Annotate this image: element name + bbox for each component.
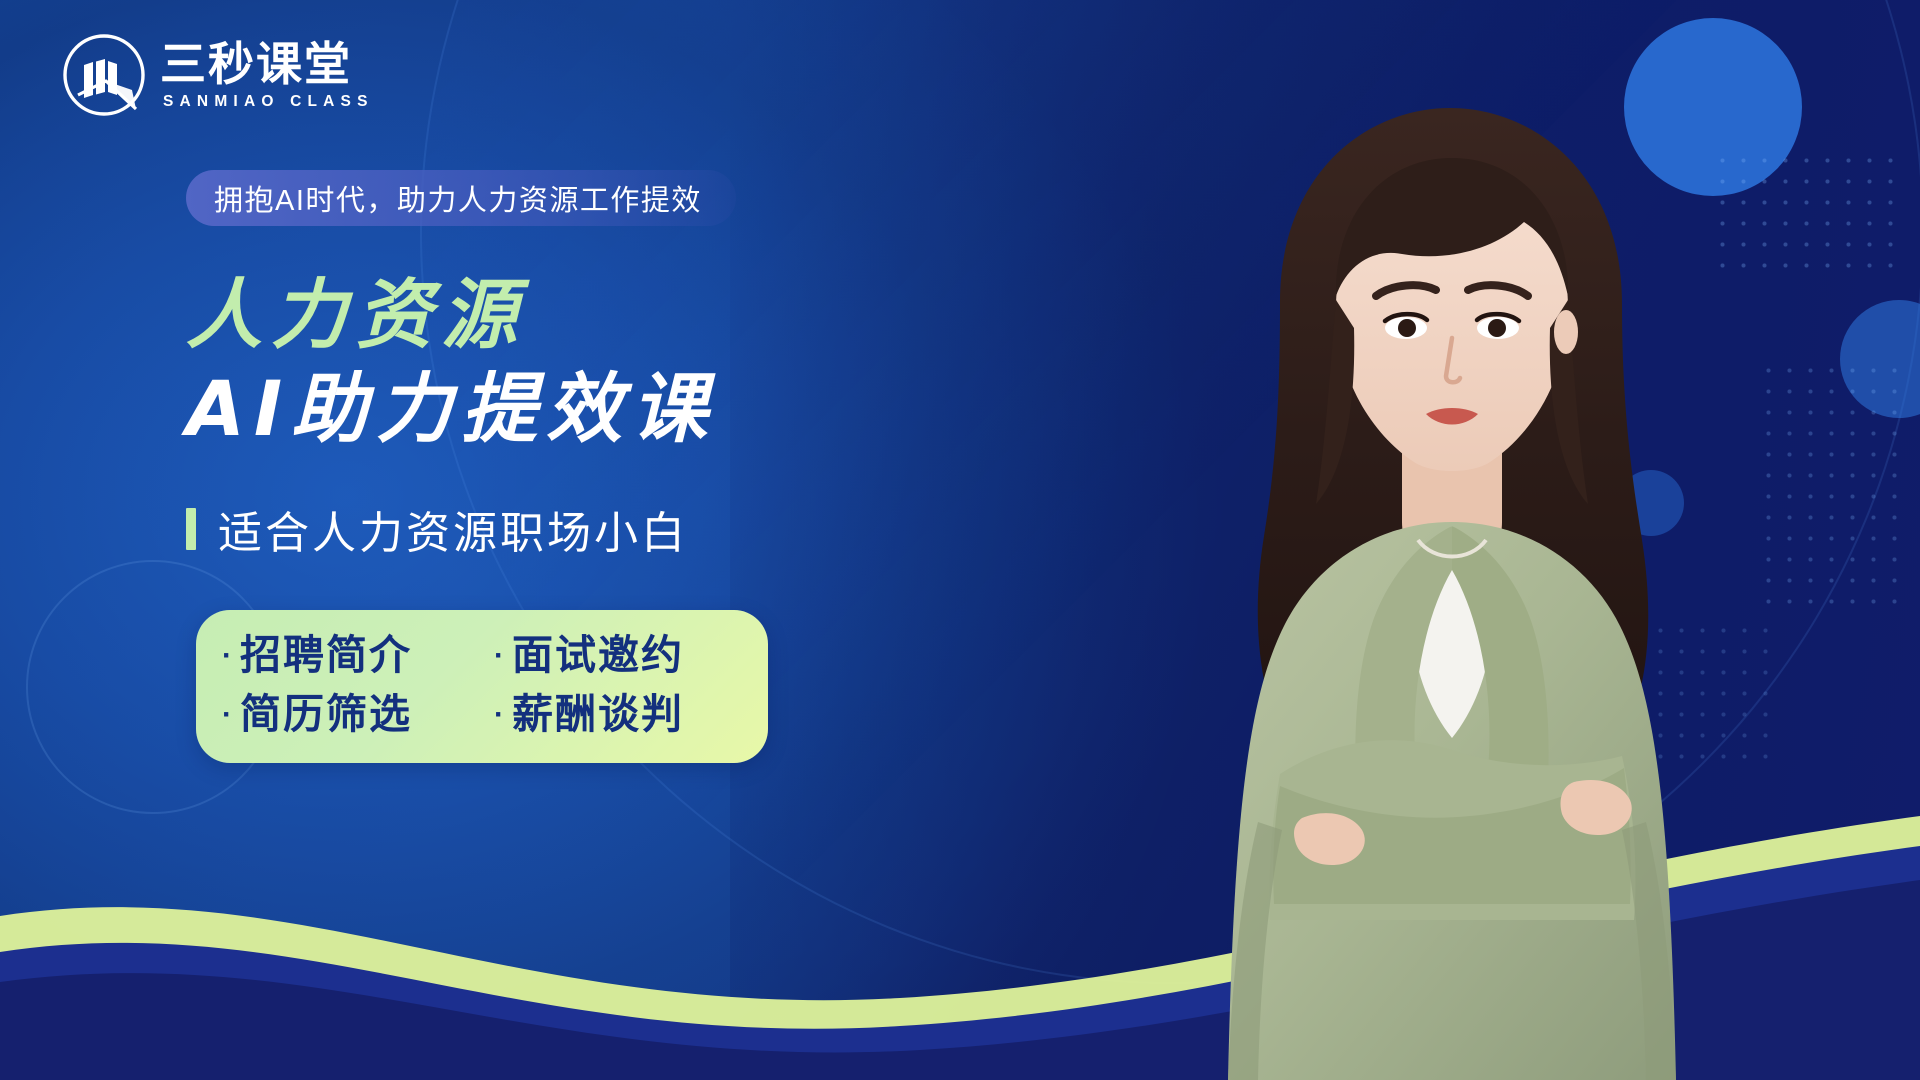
hero-subtitle: 适合人力资源职场小白 [186,497,688,561]
promo-banner: 三秒课堂 SANMIAO CLASS 拥抱AI时代，助力人力资源工作提效 人力资… [0,0,1920,1080]
open-book-icon [62,33,146,117]
tagline-text: 拥抱AI时代，助力人力资源工作提效 [214,177,702,219]
feature-row: · 简历筛选 · 薪酬谈判 [222,685,742,744]
feature-item-recruitment-brief: · 招聘简介 [222,626,494,685]
feature-list-box: · 招聘简介 · 面试邀约 · 简历筛选 · 薪酬谈判 [196,610,768,763]
subtitle-accent-bar [186,508,196,550]
feature-label: 招聘简介 [240,626,412,685]
bullet-icon: · [494,641,506,671]
bullet-icon: · [494,700,506,730]
feature-row: · 招聘简介 · 面试邀约 [222,626,742,685]
instructor-photo [1130,70,1770,1080]
brand-name-en: SANMIAO CLASS [160,93,374,111]
feature-label: 简历筛选 [240,685,412,744]
headline-line-2: AI助力提效课 [186,362,716,456]
feature-label: 面试邀约 [512,626,684,685]
feature-item-resume-screening: · 简历筛选 [222,685,494,744]
subtitle-text: 适合人力资源职场小白 [218,497,688,561]
bullet-icon: · [222,641,234,671]
brand-name-cn: 三秒课堂 [160,41,374,88]
tagline-pill: 拥抱AI时代，助力人力资源工作提效 [186,170,736,226]
hero-headline: 人力资源 AI助力提效课 [186,268,716,456]
feature-label: 薪酬谈判 [512,685,684,744]
feature-item-salary-negotiation: · 薪酬谈判 [494,685,684,744]
decorative-dot-grid-middle [1758,360,1908,610]
bullet-icon: · [222,700,234,730]
brand-logo-text: 三秒课堂 SANMIAO CLASS [160,39,374,111]
headline-line-1: 人力资源 [186,268,716,362]
feature-item-interview-invite: · 面试邀约 [494,626,684,685]
brand-logo[interactable]: 三秒课堂 SANMIAO CLASS [62,33,374,117]
